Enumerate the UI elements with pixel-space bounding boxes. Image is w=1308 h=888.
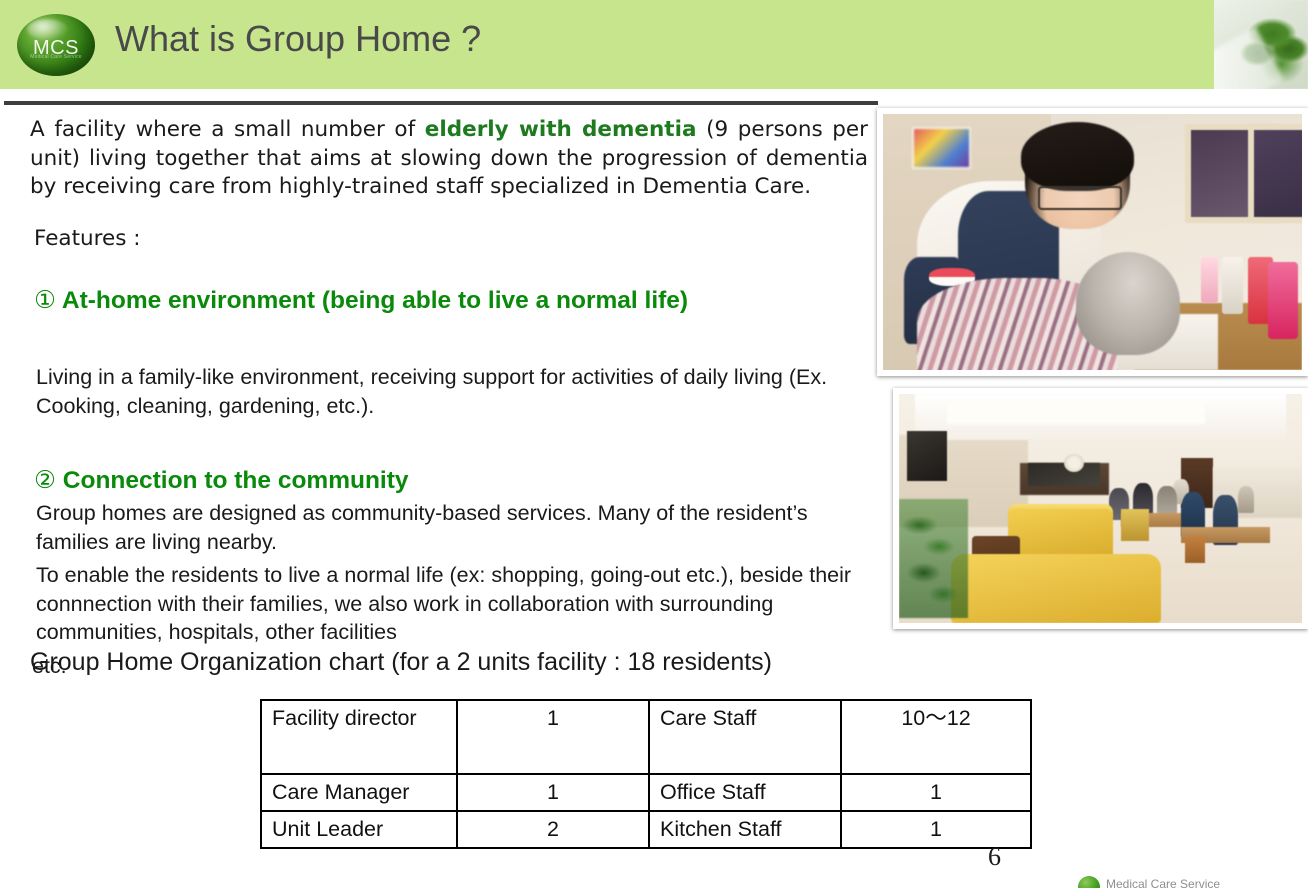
table-cell-role-2: Office Staff (649, 774, 841, 811)
page-title: What is Group Home ? (115, 18, 481, 60)
photo2-sofa-1 (1008, 509, 1113, 559)
page-number: 6 (988, 842, 1001, 872)
photo1-caregiver-hair (1021, 122, 1134, 191)
intro-paragraph: A facility where a small number of elder… (30, 116, 868, 202)
section-2-heading: ② Connection to the community (30, 459, 824, 501)
section-1-marker: ① (34, 285, 56, 314)
section-2-heading-text: Connection to the community (63, 467, 409, 494)
caregiver-assisting-elderly-photo (877, 108, 1308, 376)
photo2-ceiling-light-panel (947, 401, 1205, 424)
photo2-person-7 (1238, 486, 1254, 513)
photo2-chair-1 (1121, 509, 1149, 541)
table-cell-count-1: 1 (457, 774, 649, 811)
footer-logo-text: Medical Care Service (1106, 877, 1220, 888)
table-cell-count-1: 2 (457, 811, 649, 848)
photo2-indoor-plant (899, 499, 968, 618)
table-cell-role-1: Facility director (261, 700, 457, 774)
section-1-heading-text: At-home environment (being able to live … (62, 287, 688, 314)
photo1-mirror-second (1248, 124, 1302, 223)
table-cell-count-2: 1 (841, 774, 1031, 811)
table-cell-count-2: 10～12 (841, 700, 1031, 774)
table-cell-role-1: Care Manager (261, 774, 457, 811)
caregiver-assisting-elderly-photo-image (883, 114, 1302, 370)
photo2-wall-tv (907, 431, 947, 481)
features-label: Features : (30, 226, 141, 251)
section-2-text-continued: To enable the residents to live a normal… (32, 561, 856, 647)
photo1-wall-art (912, 127, 970, 169)
intro-text-before: A facility where a small number of (30, 117, 425, 142)
section-2-marker: ② (34, 465, 56, 494)
photo2-stool (1185, 536, 1205, 563)
org-chart-heading: Group Home Organization chart (for a 2 u… (30, 648, 772, 677)
photo2-wall-clock (1064, 454, 1084, 472)
table-cell-role-2: Care Staff (649, 700, 841, 774)
header-herbs-photo (1214, 0, 1308, 89)
footer-mcs-logo: Medical Care Service (1078, 876, 1308, 888)
slide-header-band: MCS Medical Care Service What is Group H… (0, 0, 1308, 89)
photo1-bottle-magenta (1268, 262, 1297, 339)
table-cell-role-1: Unit Leader (261, 811, 457, 848)
photo1-elderly-head (1076, 252, 1181, 354)
photo1-caregiver-glasses (1038, 186, 1122, 210)
table-row: Care Manager 1 Office Staff 1 (261, 774, 1031, 811)
photo1-bottle-pink-small (1201, 257, 1218, 303)
mcs-logo-tagline: Medical Care Service (17, 55, 95, 60)
section-2-text: Group homes are designed as community-ba… (32, 499, 836, 556)
table-cell-count-2: 1 (841, 811, 1031, 848)
org-chart-table: Facility director 1 Care Staff 10～12 Car… (260, 699, 1032, 849)
section-1-text: Living in a family-like environment, rec… (32, 363, 836, 420)
table-cell-role-2: Kitchen Staff (649, 811, 841, 848)
content-top-divider (4, 101, 878, 105)
section-1-heading: ① At-home environment (being able to liv… (30, 279, 824, 321)
table-row: Unit Leader 2 Kitchen Staff 1 (261, 811, 1031, 848)
footer-logo-sphere (1078, 876, 1100, 888)
mcs-logo: MCS Medical Care Service (17, 14, 95, 76)
common-living-room-photo-image (899, 394, 1302, 623)
table-cell-count-1: 1 (457, 700, 649, 774)
table-row: Facility director 1 Care Staff 10～12 (261, 700, 1031, 774)
photo1-bottle-white (1222, 257, 1243, 313)
common-living-room-photo (893, 388, 1308, 629)
photo2-sofa-2 (951, 554, 1161, 623)
intro-highlight: elderly with dementia (425, 117, 697, 142)
